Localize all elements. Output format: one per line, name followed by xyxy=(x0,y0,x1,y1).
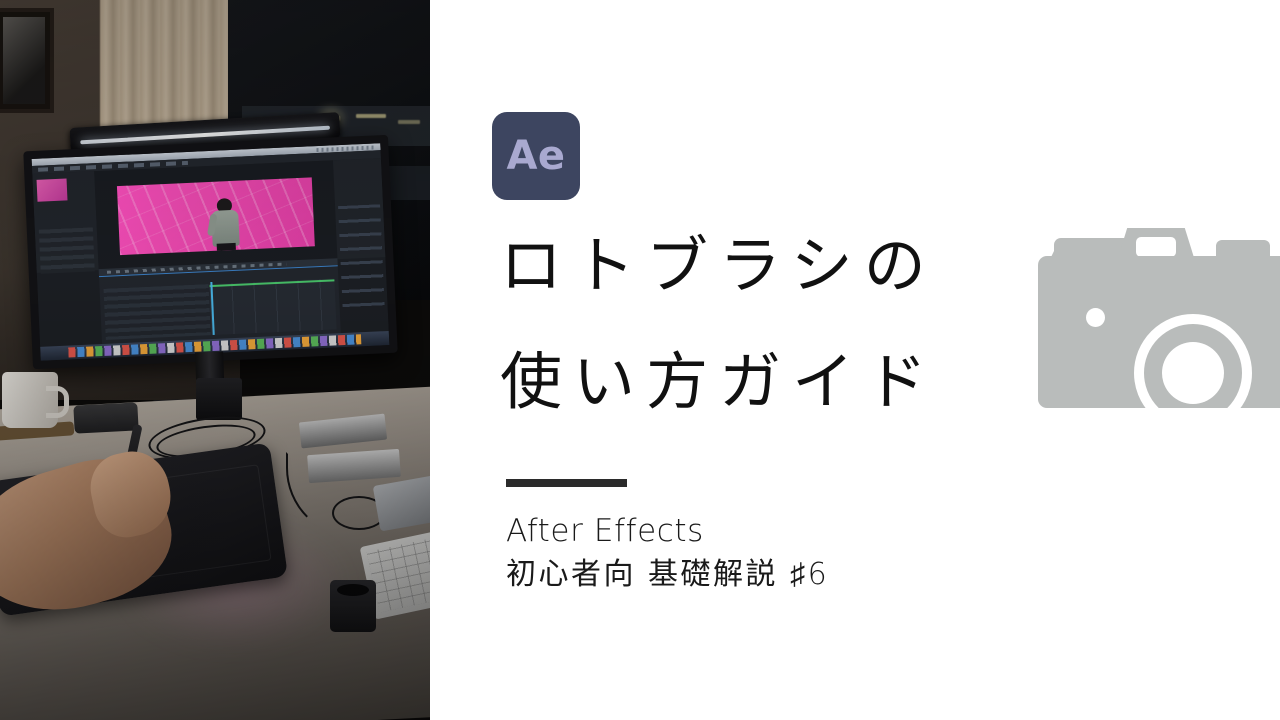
mac-mini-box xyxy=(73,402,138,433)
ae-project-thumbnail xyxy=(37,178,68,201)
desk-speaker xyxy=(196,378,242,420)
photo-window-light xyxy=(356,114,386,118)
ae-subject-figure xyxy=(209,197,242,255)
poster-canvas: Ae ロトブラシの 使い方ガイド After Effects 初心者向 基礎解説… xyxy=(0,0,1280,720)
monitor-screen xyxy=(32,143,390,361)
figure-legs xyxy=(216,242,236,255)
subtitle-japanese: 初心者向 基礎解説 ♯6 xyxy=(506,552,829,598)
desk-workstation-photo xyxy=(0,0,430,720)
ae-project-rows xyxy=(39,227,95,273)
photo-wall-frame xyxy=(0,8,54,113)
after-effects-logo-text: Ae xyxy=(506,136,565,176)
page-title-line-2: 使い方ガイド xyxy=(500,324,1060,440)
ae-layer-list xyxy=(104,284,211,340)
photo-window-light xyxy=(398,120,420,124)
camera-icon xyxy=(1038,228,1280,408)
ae-rotobrush-matte xyxy=(117,177,315,255)
ae-timeline-grid xyxy=(209,278,336,335)
pen-cup xyxy=(330,580,376,632)
ae-effects-panel xyxy=(333,158,385,259)
page-title-line-1: ロトブラシの xyxy=(500,208,1060,324)
subtitle-block: After Effects 初心者向 基礎解説 ♯6 xyxy=(506,510,829,598)
ae-project-panel xyxy=(32,171,98,273)
title-divider xyxy=(506,479,627,487)
subtitle-english: After Effects xyxy=(506,510,829,552)
camera-body xyxy=(1038,256,1280,408)
coffee-mug xyxy=(2,372,58,428)
ae-timeline-panel xyxy=(99,265,341,344)
camera-viewfinder xyxy=(1136,237,1176,257)
page-title: ロトブラシの 使い方ガイド xyxy=(500,208,1060,440)
ae-composition-viewer xyxy=(94,160,337,270)
monitor xyxy=(23,135,398,369)
camera-lens-center xyxy=(1162,342,1224,404)
camera-indicator-dot xyxy=(1086,308,1105,327)
after-effects-logo: Ae xyxy=(492,112,580,200)
photo-wall-frame-art xyxy=(3,17,45,104)
ae-effects-rows xyxy=(338,204,385,316)
